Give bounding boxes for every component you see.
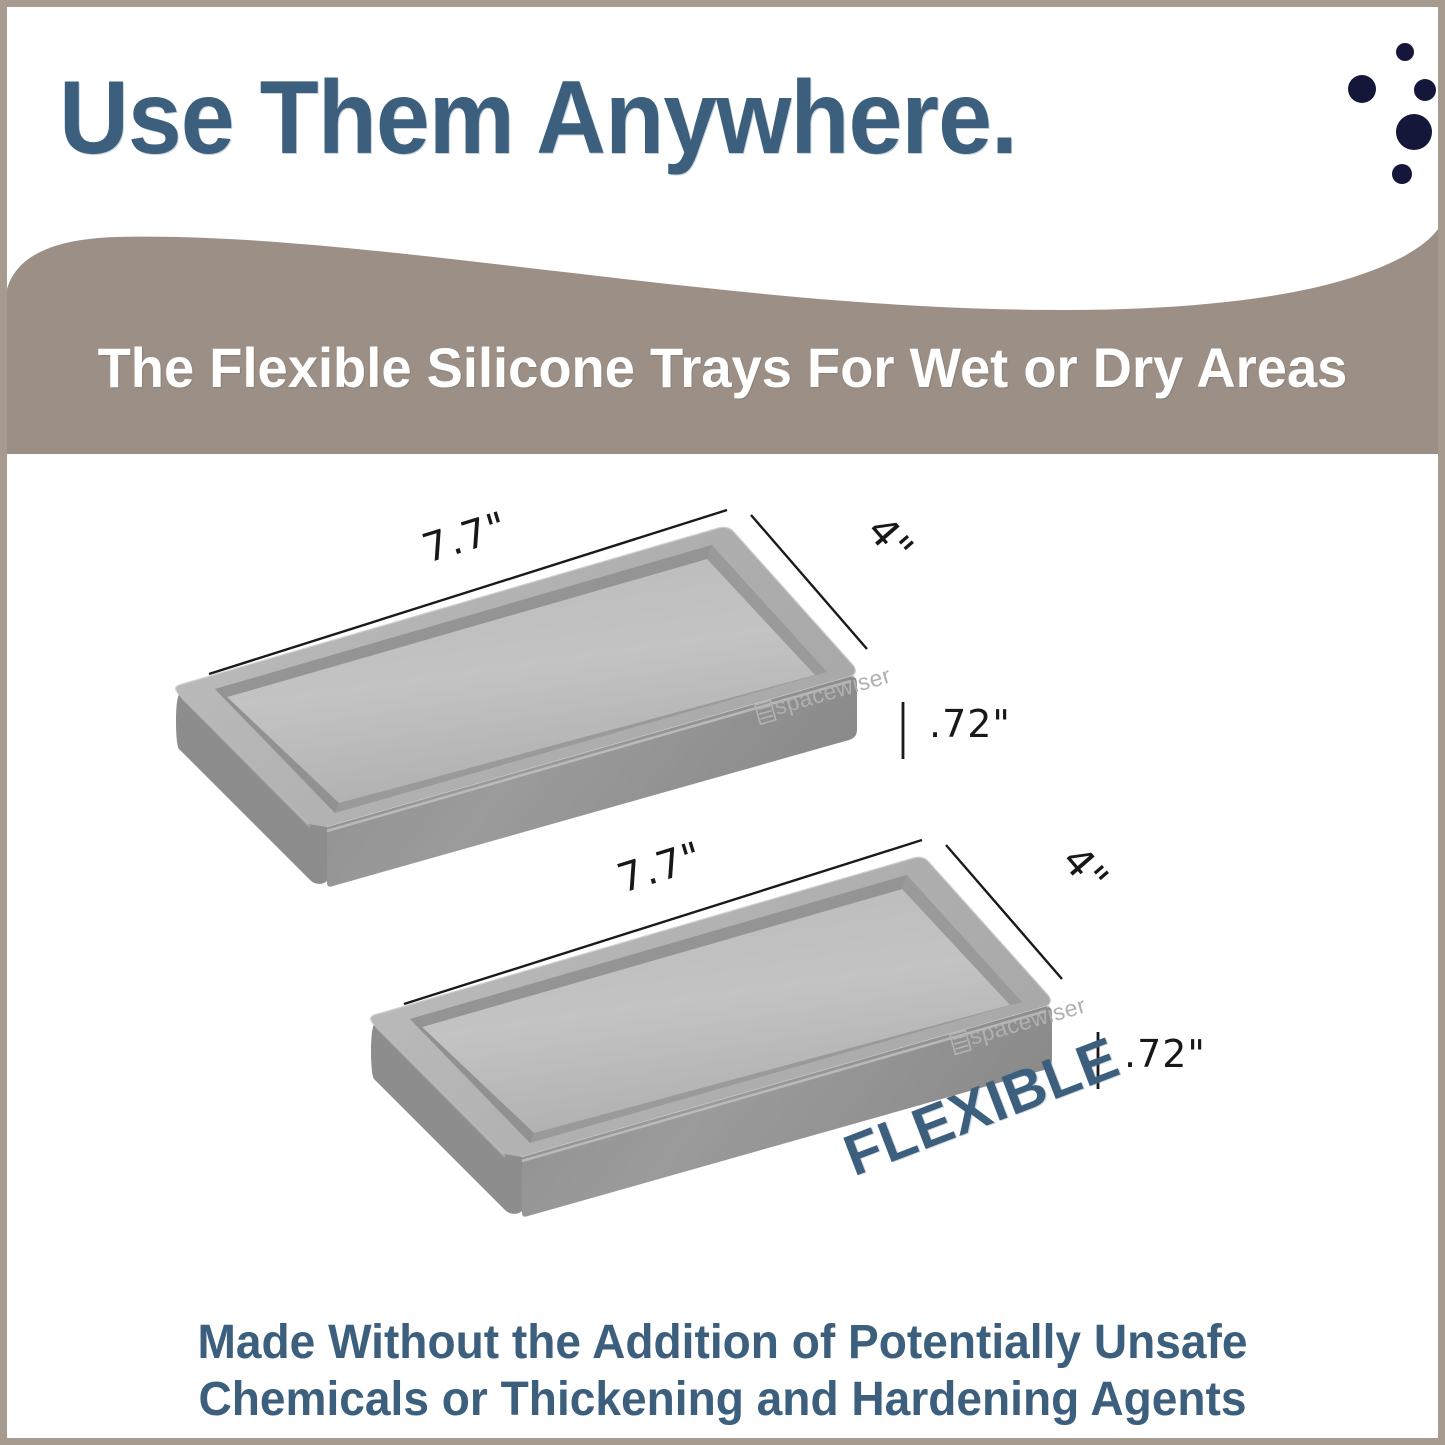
dot-icon: [1348, 75, 1376, 103]
dot-icon: [1392, 164, 1412, 184]
dot-icon: [1396, 114, 1432, 150]
subtitle-banner: The Flexible Silicone Trays For Wet or D…: [7, 229, 1438, 454]
footer-copy: Made Without the Addition of Potentially…: [7, 1315, 1438, 1428]
dot-icon: [1414, 79, 1436, 101]
banner-subtitle: The Flexible Silicone Trays For Wet or D…: [28, 335, 1416, 400]
product-illustration-area: spacewiser 7.7" 4" .72": [7, 457, 1445, 1337]
infographic-canvas: Use Them Anywhere. The Flexible Silicone…: [0, 0, 1445, 1445]
dimension-label-height: .72": [1124, 1032, 1206, 1076]
footer-line-1: Made Without the Addition of Potentially…: [36, 1315, 1410, 1372]
dimension-label-height: .72": [929, 702, 1011, 746]
dot-icon: [1396, 43, 1414, 61]
footer-line-2: Chemicals or Thickening and Hardening Ag…: [36, 1372, 1410, 1429]
decorative-dots-cluster: [1307, 27, 1437, 187]
page-title: Use Them Anywhere.: [59, 59, 1017, 178]
